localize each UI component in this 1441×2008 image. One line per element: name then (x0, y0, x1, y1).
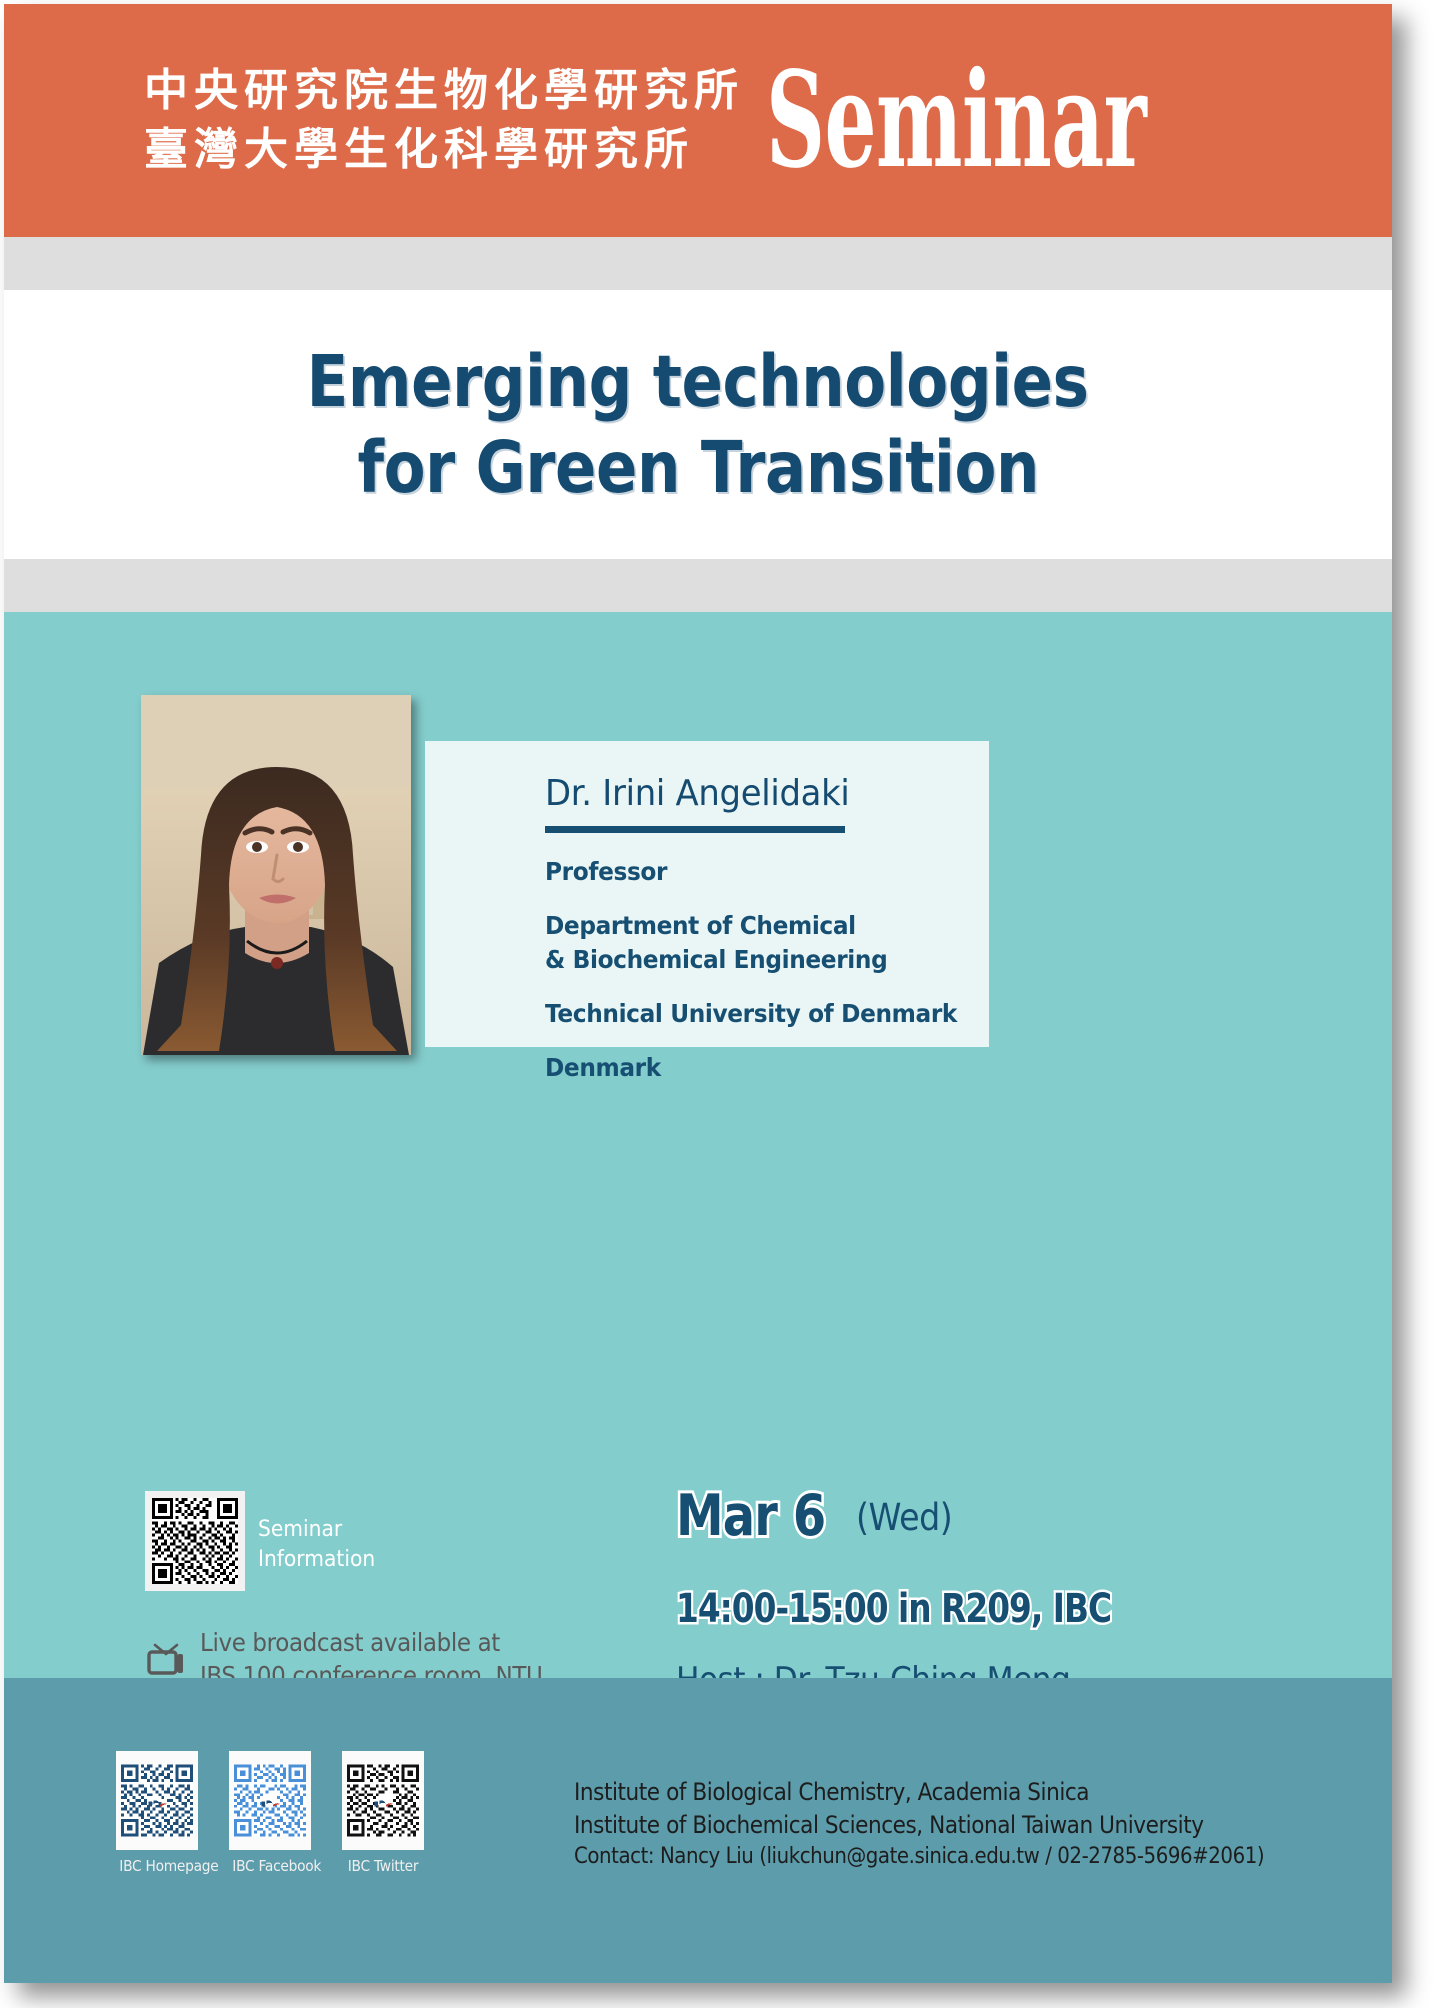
ibc-twitter-qr-code[interactable] (342, 1751, 424, 1850)
speaker-portrait (141, 695, 411, 1055)
institute-name-line-1: 中央研究院生物化學研究所 (144, 62, 744, 120)
talk-title-line-1: Emerging technologies (307, 339, 1089, 424)
seminar-information-label-line-1: Seminar (258, 1515, 375, 1545)
speaker-name: Dr. Irini Angelidaki (545, 773, 850, 814)
seminar-poster: 中央研究院生物化學研究所 臺灣大學生化科學研究所 Seminar Emergin… (4, 4, 1392, 1983)
speaker-country: Denmark (545, 1051, 945, 1085)
footer-qr-item-twitter[interactable]: IBC Twitter (342, 1751, 424, 1875)
footer-qr-item-homepage[interactable]: IBC Homepage (116, 1751, 198, 1875)
ibc-facebook-label: IBC Facebook (232, 1857, 307, 1875)
footer-contact-block: Institute of Biological Chemistry, Acade… (574, 1776, 1264, 1873)
seminar-information-label: Seminar Information (258, 1515, 375, 1575)
ibc-homepage-label: IBC Homepage (119, 1857, 194, 1875)
footer-qr-list: IBC Homepage (116, 1751, 424, 1875)
speaker-info-card: Dr. Irini Angelidaki Professor Departmen… (425, 741, 989, 1047)
ibc-homepage-qr-code[interactable] (116, 1751, 198, 1850)
seminar-information-label-line-2: Information (258, 1545, 375, 1575)
speaker-position: Professor (545, 855, 945, 889)
header-inner: 中央研究院生物化學研究所 臺灣大學生化科學研究所 Seminar (144, 60, 1379, 181)
ibc-facebook-qr-code[interactable] (229, 1751, 311, 1850)
live-broadcast-line-1: Live broadcast available at (200, 1626, 549, 1659)
event-date-row: Mar 6(Wed) (676, 1483, 963, 1549)
speaker-university: Technical University of Denmark (545, 997, 945, 1031)
header-band: 中央研究院生物化學研究所 臺灣大學生化科學研究所 Seminar (4, 4, 1392, 237)
speaker-department-line-2: & Biochemical Engineering (545, 943, 945, 977)
ibc-twitter-label: IBC Twitter (345, 1857, 420, 1875)
speaker-affiliation-block: Professor Department of Chemical & Bioch… (545, 855, 975, 1085)
event-day-of-week: (Wed) (856, 1496, 952, 1539)
footer-institute-line-2: Institute of Biochemical Sciences, Natio… (574, 1809, 1264, 1842)
event-date: Mar 6 (676, 1483, 825, 1549)
speaker-name-underline (545, 826, 845, 833)
talk-title-line-2: for Green Transition (357, 425, 1039, 510)
institute-name-line-2: 臺灣大學生化科學研究所 (144, 121, 744, 179)
seminar-wordmark: Seminar (766, 60, 1146, 181)
institute-names-chinese: 中央研究院生物化學研究所 臺灣大學生化科學研究所 (144, 62, 744, 178)
television-icon (146, 1638, 186, 1676)
seminar-information-qr-code[interactable] (145, 1491, 245, 1591)
footer-institute-line-1: Institute of Biological Chemistry, Acade… (574, 1776, 1264, 1809)
title-panel: Emerging technologies for Green Transiti… (4, 290, 1392, 559)
divider-strip-bottom (4, 559, 1392, 612)
footer-contact-line: Contact: Nancy Liu (liukchun@gate.sinica… (574, 1842, 1264, 1872)
event-time-and-place: 14:00-15:00 in R209, IBC (676, 1586, 1111, 1632)
divider-strip-top (4, 237, 1392, 290)
speaker-department-line-1: Department of Chemical (545, 909, 945, 943)
footer-qr-item-facebook[interactable]: IBC Facebook (229, 1751, 311, 1875)
